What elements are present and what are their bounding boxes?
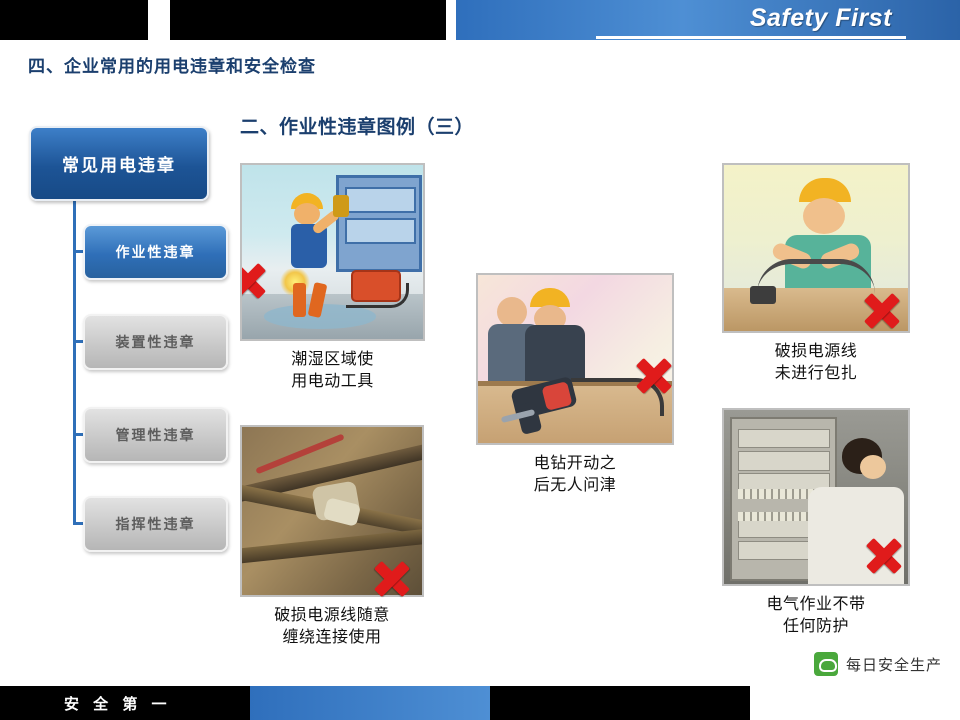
example-card-control-panel: 电气作业不带 任何防护: [722, 408, 910, 637]
caption-line-1: 破损电源线随意: [240, 605, 424, 627]
worker-a-head-shape: [497, 297, 527, 327]
power-cord-shape: [346, 283, 409, 308]
caption-line-1: 破损电源线: [722, 341, 910, 363]
example-card-wet-area: 潮湿区域使 用电动工具: [240, 163, 425, 392]
page-title: 二、作业性违章图例（三）: [240, 112, 474, 139]
banner-block-black-mid: [170, 0, 446, 40]
caption-line-2: 后无人问津: [476, 475, 674, 497]
panel-row-shape: [738, 429, 831, 449]
watermark-text: 每日安全生产: [846, 654, 942, 675]
watermark: 每日安全生产: [814, 652, 942, 676]
footer-block-white: [750, 686, 960, 720]
example-image-wet-area: [240, 163, 425, 341]
tree-node-root[interactable]: 常见用电违章: [29, 126, 209, 201]
caption-line-2: 用电动工具: [240, 371, 425, 393]
example-card-wrapped-cable: 破损电源线随意 缠绕连接使用: [240, 425, 424, 648]
section-heading: 四、企业常用的用电违章和安全检查: [28, 52, 316, 77]
worker-face-shape: [860, 455, 886, 479]
brand-title: Safety First: [750, 4, 892, 33]
power-tool-shape: [333, 195, 349, 217]
example-image-unattended-drill: [476, 273, 674, 445]
brand-underline: [596, 36, 906, 39]
banner-block-black-left: [0, 0, 148, 40]
tree-node-operational-violation[interactable]: 作业性违章: [83, 224, 228, 280]
caption-line-2: 任何防护: [722, 616, 910, 638]
caption-line-1: 潮湿区域使: [240, 349, 425, 371]
example-caption-wrapped-cable: 破损电源线随意 缠绕连接使用: [240, 605, 424, 648]
panel-row-shape: [738, 451, 831, 471]
example-caption-control-panel: 电气作业不带 任何防护: [722, 594, 910, 637]
wall-shape: [336, 175, 422, 271]
illustration-control-panel: [724, 410, 908, 584]
footer-slogan: 安 全 第 一: [64, 693, 172, 714]
illustration-damaged-cord: [724, 165, 908, 331]
example-image-damaged-cord: [722, 163, 910, 333]
banner-block-white-mid: [446, 0, 456, 40]
tree-node-command-violation[interactable]: 指挥性违章: [83, 496, 228, 552]
power-cord-shape: [571, 378, 664, 416]
example-image-wrapped-cable: [240, 425, 424, 597]
worker-head-shape: [803, 198, 845, 234]
illustration-wet-area: [242, 165, 423, 339]
caption-line-1: 电钻开动之: [476, 453, 674, 475]
example-card-damaged-cord: 破损电源线 未进行包扎: [722, 163, 910, 384]
illustration-unattended-drill: [478, 275, 672, 443]
example-caption-unattended-drill: 电钻开动之 后无人问津: [476, 453, 674, 496]
caption-line-1: 电气作业不带: [722, 594, 910, 616]
violation-category-tree: 常见用电违章 作业性违章 装置性违章 管理性违章 指挥性违章: [25, 126, 215, 556]
top-banner: Safety First: [0, 0, 960, 40]
example-caption-wet-area: 潮湿区域使 用电动工具: [240, 349, 425, 392]
example-image-control-panel: [722, 408, 910, 586]
tree-node-management-violation[interactable]: 管理性违章: [83, 407, 228, 463]
tree-node-equipment-violation[interactable]: 装置性违章: [83, 314, 228, 370]
wechat-logo-icon: [814, 652, 838, 676]
footer-block-blue: [250, 686, 490, 720]
caption-line-2: 缠绕连接使用: [240, 627, 424, 649]
example-caption-damaged-cord: 破损电源线 未进行包扎: [722, 341, 910, 384]
caption-line-2: 未进行包扎: [722, 363, 910, 385]
plug-shape: [750, 286, 776, 304]
footer-block-black-right: [490, 686, 750, 720]
cable-shape-3: [240, 527, 424, 564]
worker-leg-left-shape: [293, 283, 306, 317]
banner-block-white-left: [148, 0, 170, 40]
example-card-unattended-drill: 电钻开动之 后无人问津: [476, 273, 674, 496]
bottom-bar: 安 全 第 一: [0, 686, 960, 720]
illustration-wrapped-cable: [242, 427, 422, 595]
worker-body-shape: [808, 487, 904, 584]
